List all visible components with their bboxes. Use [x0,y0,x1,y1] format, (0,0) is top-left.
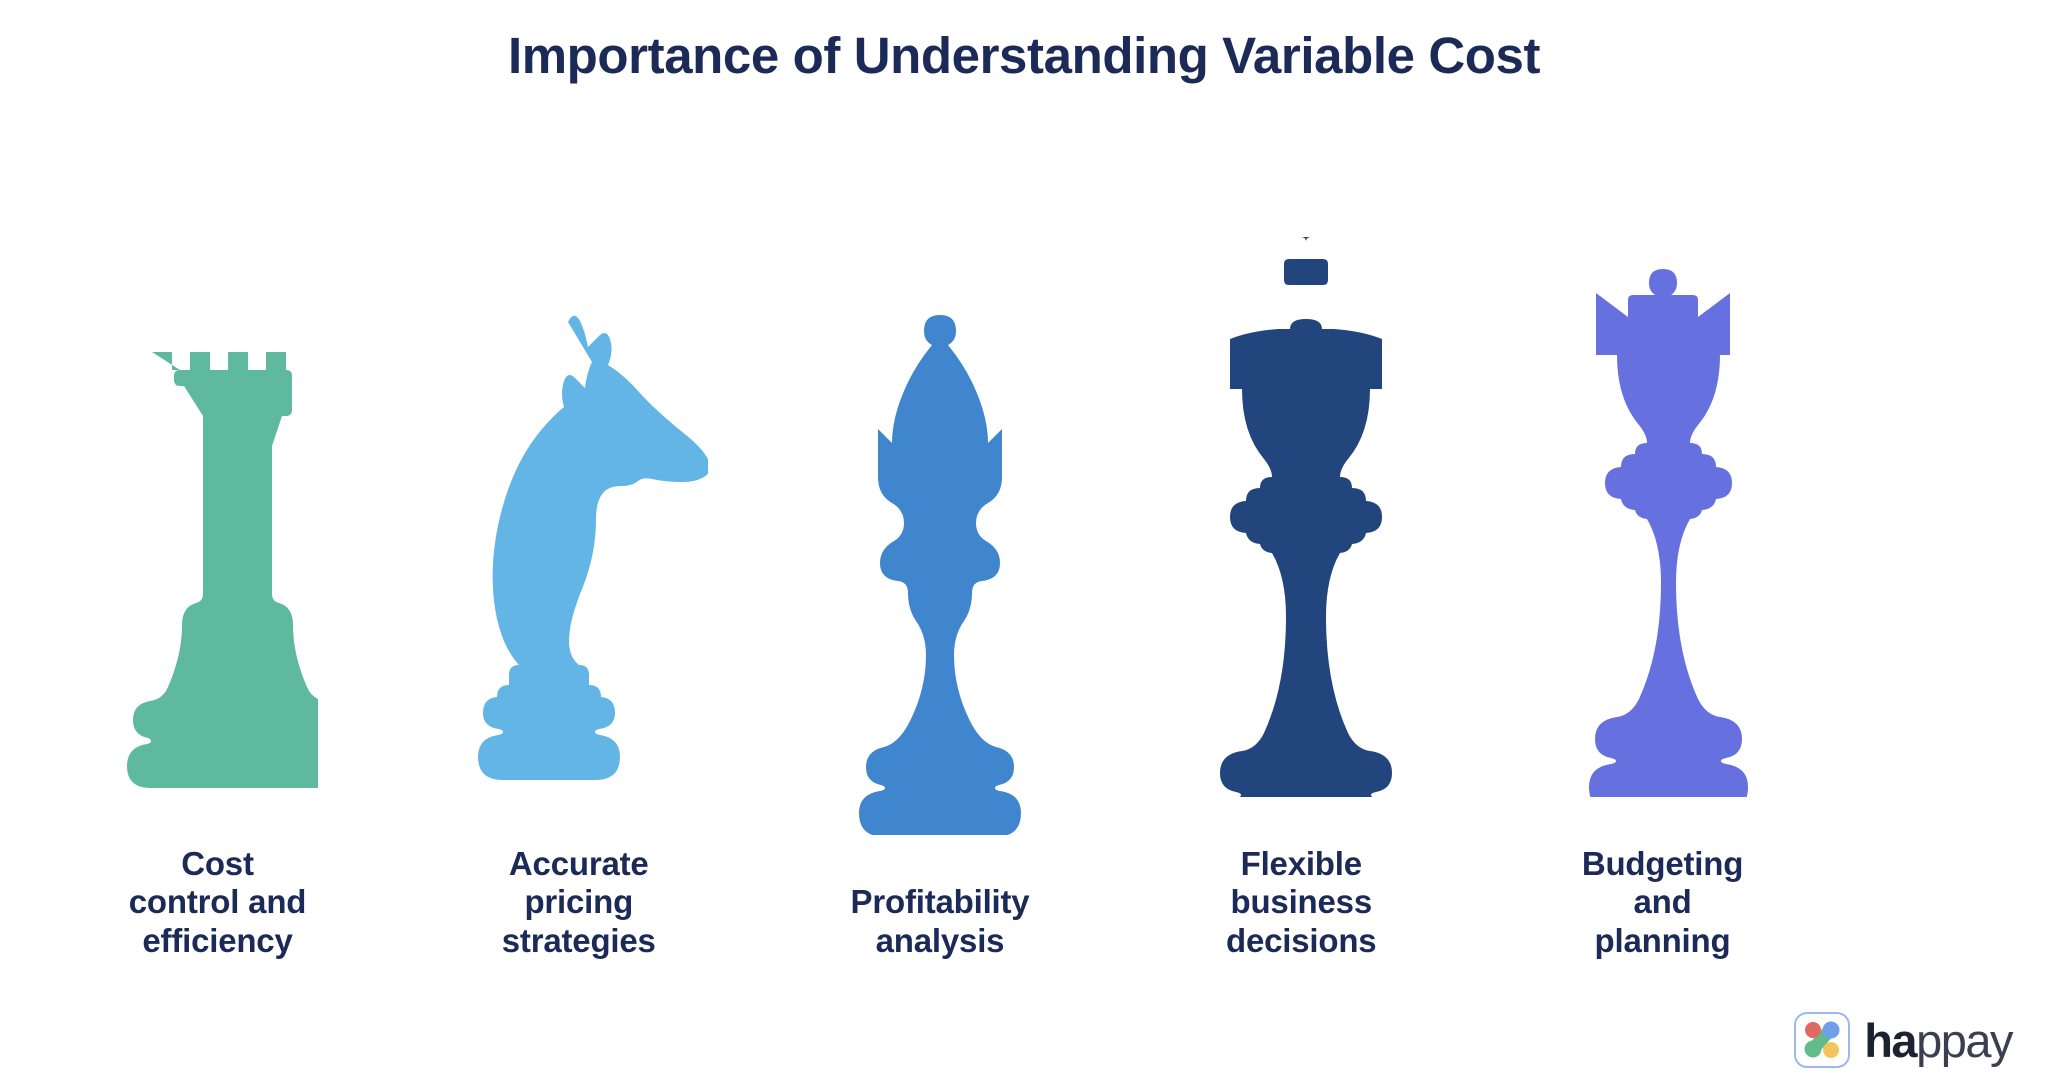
label-line: pricing [429,883,729,921]
item-label: Accurate pricing strategies [429,845,729,960]
chess-king-icon [1124,152,1479,797]
chess-knight-icon [401,152,756,797]
label-line: strategies [429,922,729,960]
wordmark-bold: ha [1864,1014,1916,1067]
chess-rook-icon [40,152,395,797]
wordmark-light: ppay [1916,1014,2012,1067]
item-cost-control-and-efficiency: Cost control and efficiency [40,150,395,960]
happay-dots-icon [1794,1012,1850,1068]
label-line: analysis [790,922,1090,960]
chess-bishop-icon [763,190,1118,835]
label-line: decisions [1151,922,1451,960]
chess-queen-icon [1485,152,1840,797]
chess-pieces-row: Cost control and efficiency Accurate pri… [40,150,1840,960]
item-label: Profitability analysis [790,883,1090,960]
item-budgeting-and-planning: Budgeting and planning [1485,150,1840,960]
label-line: Cost [68,845,368,883]
happay-logo: happay [1794,1012,2012,1068]
item-label: Cost control and efficiency [68,845,368,960]
label-line: Flexible [1151,845,1451,883]
label-line: planning [1513,922,1813,960]
label-line: efficiency [68,922,368,960]
item-label: Flexible business decisions [1151,845,1451,960]
page-title: Importance of Understanding Variable Cos… [0,26,2048,86]
item-label: Budgeting and planning [1513,845,1813,960]
label-line: and [1513,883,1813,921]
label-line: Profitability [790,883,1090,921]
item-profitability-analysis: Profitability analysis [763,150,1118,960]
item-accurate-pricing-strategies: Accurate pricing strategies [401,150,756,960]
label-line: Budgeting [1513,845,1813,883]
label-line: control and [68,883,368,921]
happay-wordmark: happay [1864,1017,2012,1064]
label-line: Accurate [429,845,729,883]
item-flexible-business-decisions: Flexible business decisions [1124,150,1479,960]
label-line: business [1151,883,1451,921]
